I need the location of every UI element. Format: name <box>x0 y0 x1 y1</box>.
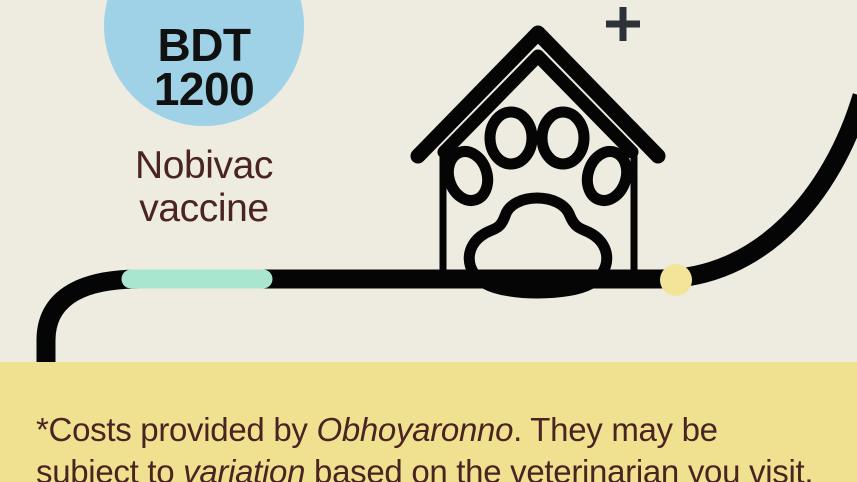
price-amount-label: 1200 <box>154 67 254 112</box>
footnote-band: *Costs provided by Obhoyaronno. They may… <box>0 362 857 482</box>
vaccine-caption: Nobivac vaccine <box>104 145 304 231</box>
price-currency-label: BDT <box>157 23 250 68</box>
plus-icon <box>606 7 640 41</box>
footnote-suffix: based on the veterinarian you visit. <box>305 453 813 482</box>
paw-toe-outer-right <box>581 146 633 205</box>
vaccine-caption-line-1: Nobivac <box>104 145 304 188</box>
paw-toe-outer-left <box>442 146 494 205</box>
footnote-text: *Costs provided by Obhoyaronno. They may… <box>36 409 823 482</box>
paw-toe-inner-left <box>490 112 532 164</box>
dog-house-with-paw-icon <box>418 33 658 293</box>
timeline-node-icon <box>660 264 692 296</box>
footnote-variation-word: variation <box>183 453 305 482</box>
infographic-canvas: BDT 1200 Nobivac vaccine *Costs provided… <box>0 0 857 482</box>
paw-toe-inner-right <box>542 112 584 164</box>
footnote-prefix: *Costs provided by <box>36 411 316 448</box>
vaccine-caption-line-2: vaccine <box>104 188 304 231</box>
footnote-source-name: Obhoyaronno <box>316 411 513 448</box>
